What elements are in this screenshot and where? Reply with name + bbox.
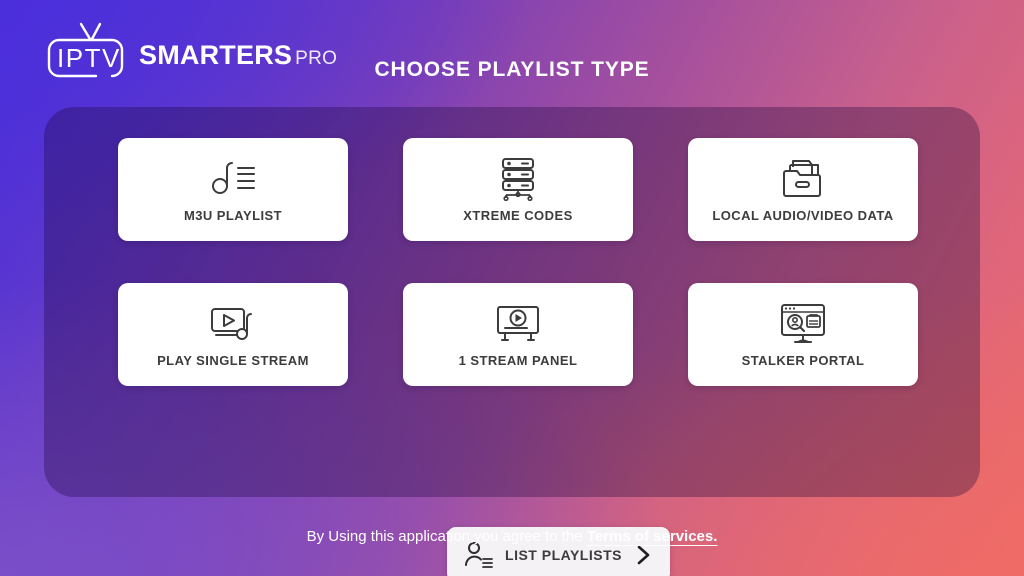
playlist-type-grid: M3U PLAYLIST bbox=[118, 138, 918, 386]
card-1-stream-panel[interactable]: 1 STREAM PANEL bbox=[403, 283, 633, 386]
card-label: LOCAL AUDIO/VIDEO DATA bbox=[712, 208, 893, 223]
card-xtreme-codes[interactable]: XTREME CODES bbox=[403, 138, 633, 241]
card-label: PLAY SINGLE STREAM bbox=[157, 353, 309, 368]
video-play-music-icon bbox=[209, 302, 257, 346]
playlist-type-panel: M3U PLAYLIST bbox=[44, 107, 980, 497]
tv-play-circle-icon bbox=[494, 302, 542, 346]
footer-text: By Using this application,you agree to t… bbox=[307, 528, 587, 545]
card-label: 1 STREAM PANEL bbox=[459, 353, 578, 368]
card-label: XTREME CODES bbox=[463, 208, 572, 223]
header: IPTV SMARTERS PRO CHOOSE PLAYLIST TYPE bbox=[0, 0, 1024, 107]
list-playlists-label: LIST PLAYLISTS bbox=[494, 547, 633, 563]
monitor-search-icon bbox=[779, 302, 827, 346]
card-label: M3U PLAYLIST bbox=[184, 208, 282, 223]
server-stack-icon bbox=[495, 157, 541, 201]
card-play-single-stream[interactable]: PLAY SINGLE STREAM bbox=[118, 283, 348, 386]
page-title: CHOOSE PLAYLIST TYPE bbox=[0, 58, 1024, 82]
footer: By Using this application,you agree to t… bbox=[0, 528, 1024, 545]
terms-of-services-link[interactable]: Terms of services. bbox=[587, 528, 718, 545]
chevron-right-icon bbox=[633, 543, 653, 567]
card-stalker-portal[interactable]: STALKER PORTAL bbox=[688, 283, 918, 386]
card-m3u-playlist[interactable]: M3U PLAYLIST bbox=[118, 138, 348, 241]
music-note-playlist-icon bbox=[210, 157, 256, 201]
folder-documents-icon bbox=[781, 157, 825, 201]
card-label: STALKER PORTAL bbox=[742, 353, 865, 368]
card-local-audio-video-data[interactable]: LOCAL AUDIO/VIDEO DATA bbox=[688, 138, 918, 241]
